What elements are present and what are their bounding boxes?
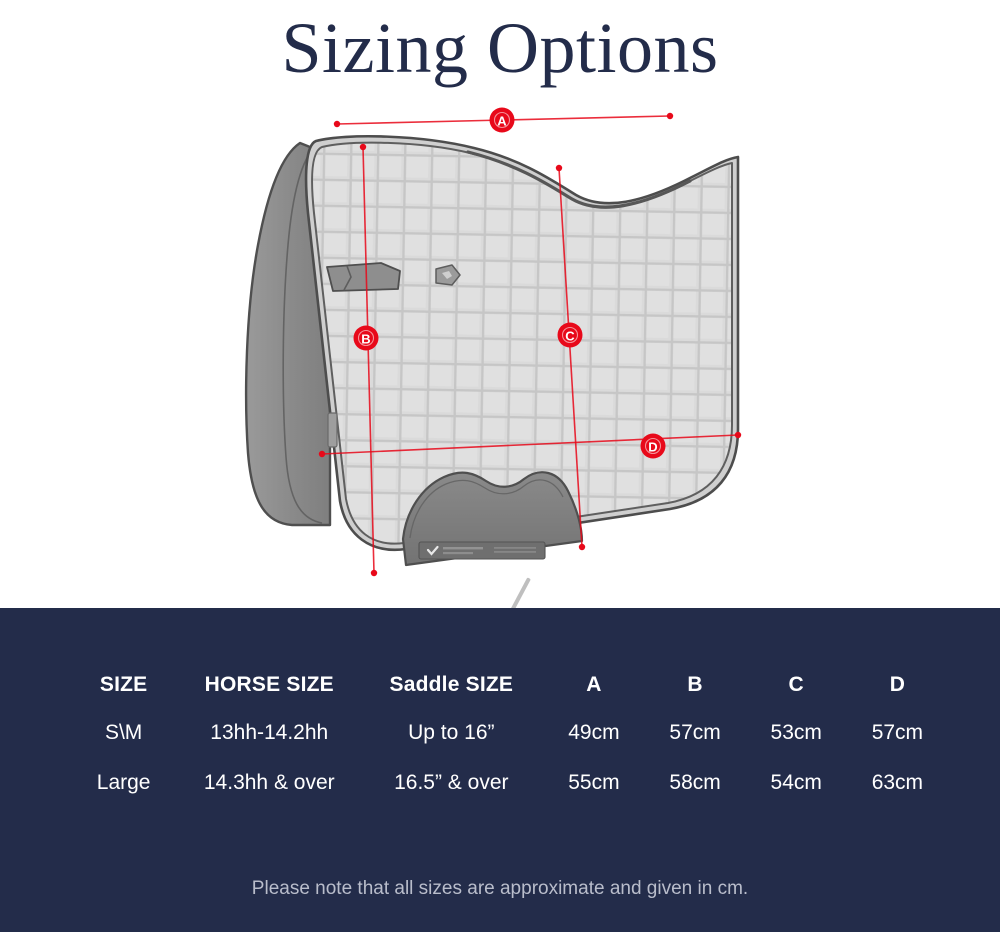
cell-saddle-size: Up to 16”	[359, 708, 543, 758]
table-header-row: SIZE HORSE SIZE Saddle SIZE A B C D	[68, 662, 948, 708]
measurement-marker-a: A	[490, 108, 515, 133]
cell-d: 63cm	[847, 758, 948, 808]
cell-d: 57cm	[847, 708, 948, 758]
column-header-horse-size: HORSE SIZE	[179, 662, 359, 708]
cell-a: 49cm	[543, 708, 644, 758]
cell-size: Large	[68, 758, 179, 808]
marker-a-label: A	[497, 114, 507, 129]
sizing-options-page: Sizing Options	[0, 0, 1000, 932]
size-table: SIZE HORSE SIZE Saddle SIZE A B C D S\M …	[68, 662, 948, 808]
billet-strap-tab	[327, 263, 400, 291]
cell-b: 58cm	[645, 758, 746, 808]
page-title-area: Sizing Options	[0, 0, 1000, 95]
table-row: S\M 13hh-14.2hh Up to 16” 49cm 57cm 53cm…	[68, 708, 948, 758]
cell-c: 53cm	[746, 708, 847, 758]
column-header-c: C	[746, 662, 847, 708]
column-header-a: A	[543, 662, 644, 708]
size-table-wrap: SIZE HORSE SIZE Saddle SIZE A B C D S\M …	[0, 662, 1000, 808]
marker-b-label: B	[361, 332, 370, 347]
column-header-d: D	[847, 662, 948, 708]
marker-d-label: D	[648, 440, 657, 455]
table-row: Large 14.3hh & over 16.5” & over 55cm 58…	[68, 758, 948, 808]
side-label-tab	[328, 413, 337, 447]
cell-size: S\M	[68, 708, 179, 758]
girth-guard	[403, 472, 582, 608]
column-header-b: B	[645, 662, 746, 708]
sizing-note: Please note that all sizes are approxima…	[0, 878, 1000, 900]
cell-saddle-size: 16.5” & over	[359, 758, 543, 808]
saddle-pad-diagram: A B C D	[0, 95, 1000, 608]
measurement-marker-b: B	[354, 326, 379, 351]
measurement-marker-d: D	[641, 434, 666, 459]
cell-b: 57cm	[645, 708, 746, 758]
page-title: Sizing Options	[281, 12, 718, 84]
cell-a: 55cm	[543, 758, 644, 808]
cell-horse-size: 14.3hh & over	[179, 758, 359, 808]
column-header-size: SIZE	[68, 662, 179, 708]
cell-horse-size: 13hh-14.2hh	[179, 708, 359, 758]
marker-c-label: C	[565, 329, 575, 344]
measurement-marker-c: C	[558, 323, 583, 348]
column-header-saddle-size: Saddle SIZE	[359, 662, 543, 708]
size-table-panel: SIZE HORSE SIZE Saddle SIZE A B C D S\M …	[0, 608, 1000, 932]
cell-c: 54cm	[746, 758, 847, 808]
